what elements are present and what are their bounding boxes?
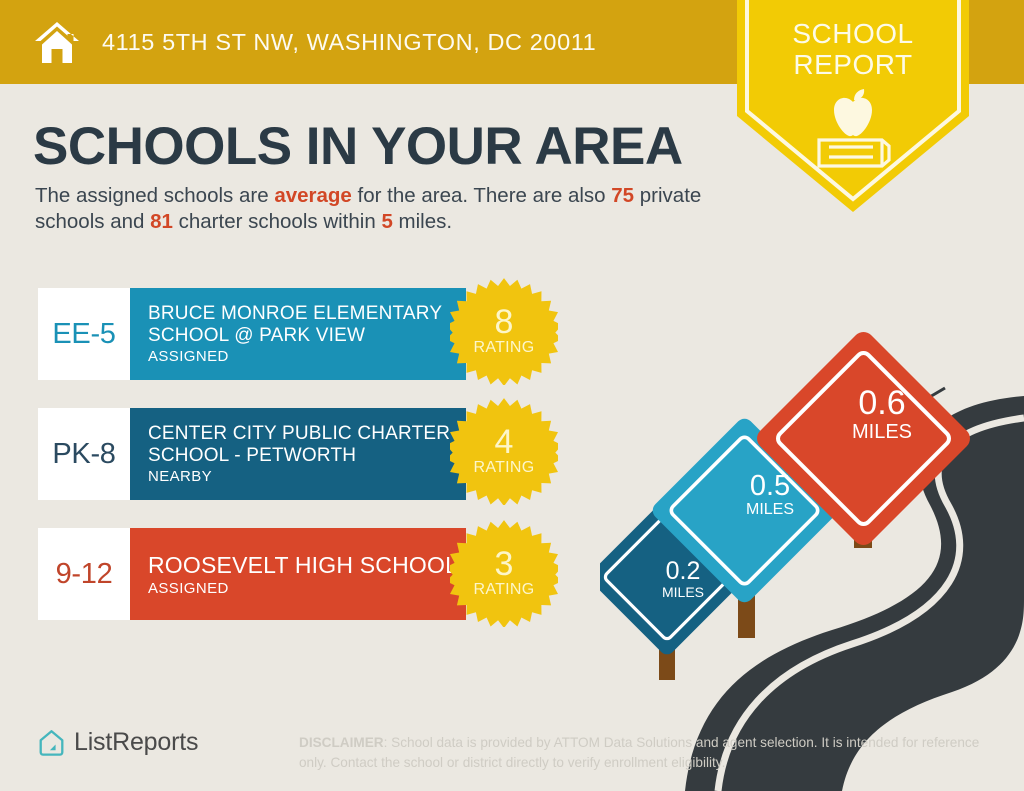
grade-range-badge: EE-5	[38, 288, 130, 380]
rating-value: 4	[495, 426, 514, 459]
school-status: ASSIGNED	[148, 580, 466, 597]
distance-sign-label: 0.2 MILES	[640, 558, 726, 600]
school-report-badge: SCHOOL REPORT	[737, 0, 969, 212]
rating-starburst: 8 RATING	[450, 277, 558, 385]
search-radius-miles: 5	[381, 210, 392, 233]
private-school-count: 75	[611, 184, 634, 207]
charter-school-count: 81	[150, 210, 173, 233]
school-row[interactable]: PK-8 CENTER CITY PUBLIC CHARTER SCHOOL -…	[38, 408, 466, 500]
school-status: NEARBY	[148, 468, 466, 485]
distance-unit: MILES	[640, 584, 726, 600]
rating-content: 8 RATING	[450, 277, 558, 385]
summary-part-4: charter schools within	[173, 210, 382, 233]
summary-part-1: The assigned schools are	[35, 184, 274, 207]
rating-starburst: 4 RATING	[450, 397, 558, 505]
school-info: BRUCE MONROE ELEMENTARY SCHOOL @ PARK VI…	[130, 288, 466, 380]
road-illustration	[600, 300, 1024, 791]
distance-value: 0.5	[722, 471, 818, 501]
disclaimer-text: DISCLAIMER: School data is provided by A…	[299, 733, 989, 773]
distance-value: 0.6	[827, 385, 937, 421]
rating-content: 4 RATING	[450, 397, 558, 505]
school-info: CENTER CITY PUBLIC CHARTER SCHOOL - PETW…	[130, 408, 466, 500]
distance-sign-label: 0.6 MILES	[827, 385, 937, 443]
school-row[interactable]: 9-12 ROOSEVELT HIGH SCHOOL ASSIGNED	[38, 528, 466, 620]
grade-range-badge: PK-8	[38, 408, 130, 500]
property-address: 4115 5TH ST NW, WASHINGTON, DC 20011	[102, 29, 596, 56]
summary-part-5: miles.	[393, 210, 452, 233]
rating-content: 3 RATING	[450, 519, 558, 627]
grade-range-badge: 9-12	[38, 528, 130, 620]
school-status: ASSIGNED	[148, 348, 466, 365]
rating-caption: RATING	[473, 581, 534, 599]
badge-line-1: SCHOOL	[737, 18, 969, 49]
rating-value: 3	[495, 548, 514, 581]
rating-starburst: 3 RATING	[450, 519, 558, 627]
listreports-wordmark: ListReports	[74, 728, 198, 757]
rating-caption: RATING	[473, 339, 534, 357]
distance-unit: MILES	[827, 421, 937, 443]
disclaimer-body: : School data is provided by ATTOM Data …	[299, 735, 979, 770]
grade-range-label: 9-12	[56, 558, 113, 591]
rating-value: 8	[495, 306, 514, 339]
school-row[interactable]: EE-5 BRUCE MONROE ELEMENTARY SCHOOL @ PA…	[38, 288, 466, 380]
school-info: ROOSEVELT HIGH SCHOOL ASSIGNED	[130, 528, 466, 620]
badge-line-2: REPORT	[737, 49, 969, 80]
rating-caption: RATING	[473, 459, 534, 477]
summary-rating-word: average	[274, 184, 352, 207]
header-content: 4115 5TH ST NW, WASHINGTON, DC 20011	[34, 0, 596, 84]
summary-part-2: for the area. There are also	[352, 184, 611, 207]
disclaimer-label: DISCLAIMER	[299, 735, 384, 750]
school-name: CENTER CITY PUBLIC CHARTER SCHOOL - PETW…	[148, 423, 466, 466]
school-name: ROOSEVELT HIGH SCHOOL	[148, 552, 466, 578]
distance-value: 0.2	[640, 558, 726, 584]
page-title: SCHOOLS IN YOUR AREA	[33, 118, 683, 176]
grade-range-label: PK-8	[52, 438, 115, 471]
badge-title: SCHOOL REPORT	[737, 18, 969, 80]
summary-text: The assigned schools are average for the…	[35, 183, 735, 235]
school-report-infographic: 4115 5TH ST NW, WASHINGTON, DC 20011 SCH…	[0, 0, 1024, 791]
listreports-logo[interactable]: ListReports	[38, 728, 198, 757]
school-name: BRUCE MONROE ELEMENTARY SCHOOL @ PARK VI…	[148, 303, 466, 346]
grade-range-label: EE-5	[52, 318, 115, 351]
distance-unit: MILES	[722, 501, 818, 519]
distance-sign-label: 0.5 MILES	[722, 471, 818, 519]
listreports-house-icon	[38, 729, 65, 757]
home-icon	[34, 20, 80, 64]
